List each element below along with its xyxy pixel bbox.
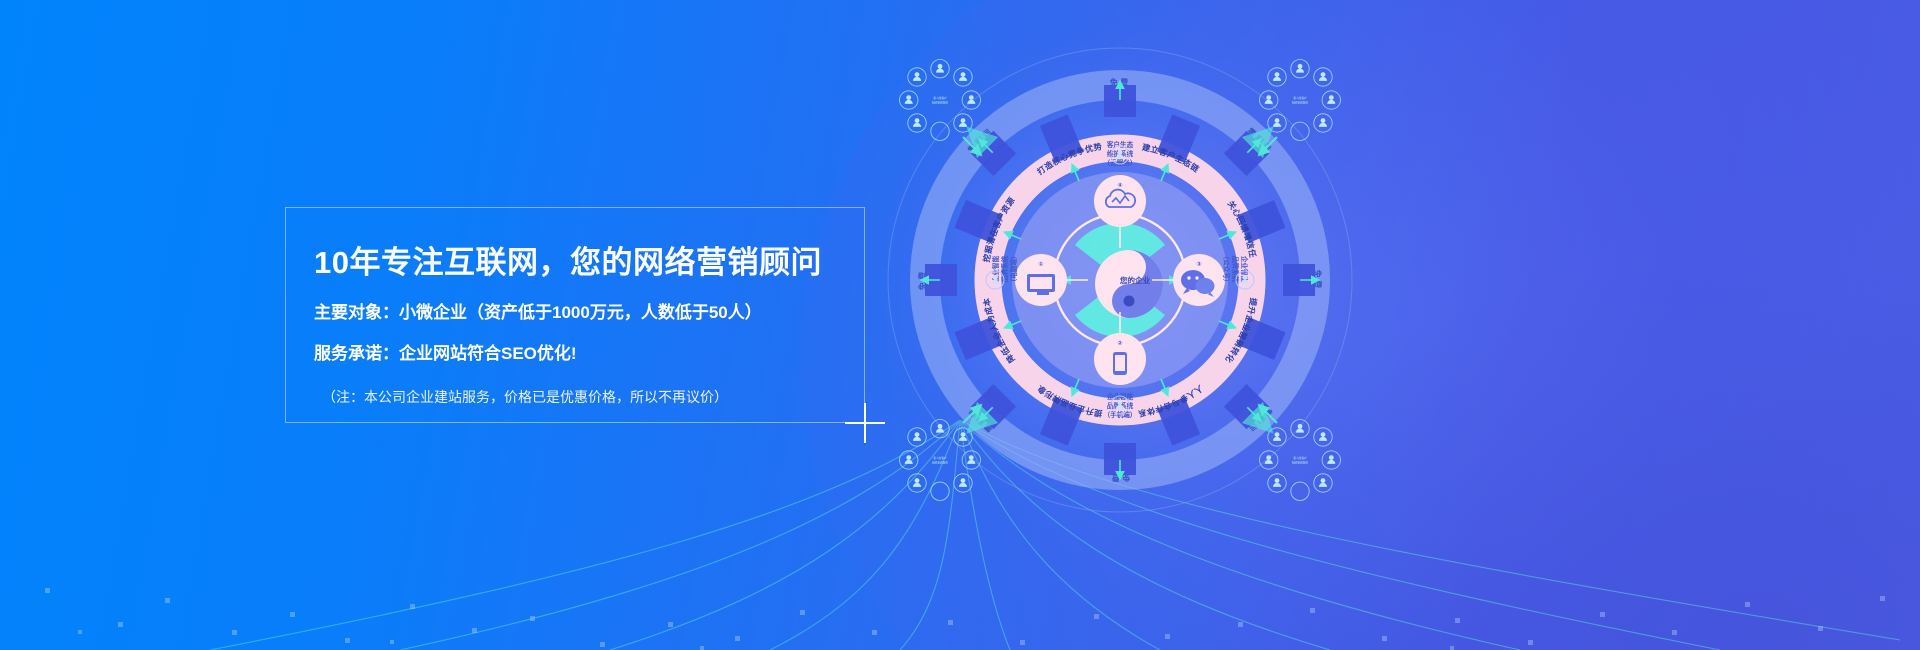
cluster-label: 新的新的新的 — [1292, 461, 1308, 465]
page-title: 10年专注互联网，您的网络营销顾问 — [314, 246, 864, 280]
node-number: ① — [1038, 261, 1043, 268]
hero-banner: 10年专注互联网，您的网络营销顾问 主要对象：小微企业（资产低于1000万元，人… — [0, 0, 1920, 650]
cluster-label: 新人的客户 — [933, 96, 947, 100]
price-note: （注：本公司企业建站服务，价格已是优惠价格，所以不再议价） — [322, 387, 864, 407]
node-number: ④ — [1117, 182, 1122, 189]
cluster-label: 新人的客户 — [1293, 96, 1307, 100]
node-number: ② — [1117, 340, 1122, 347]
node-number: ③ — [1196, 261, 1201, 268]
service-promise-line: 服务承诺：企业网站符合SEO优化! — [314, 344, 864, 364]
mobile-icon — [1113, 352, 1127, 375]
target-audience-line: 主要对象：小微企业（资产低于1000万元，人数低于50人） — [314, 303, 864, 323]
cluster-label: 新的新的新的 — [932, 101, 948, 105]
center-label: 您的企业 — [1120, 275, 1151, 285]
cluster-label: 新的新的新的 — [1292, 101, 1308, 105]
ecosystem-diagram: 免费 零利润 免费 零利润 免费 零利润 免费 零利润 — [835, 0, 1405, 565]
monitor-icon — [1027, 274, 1055, 295]
cluster-label: 新的新的新的 — [932, 461, 948, 465]
cluster-label: 新人的客户 — [933, 456, 947, 460]
cluster-label: 新人的客户 — [1293, 456, 1307, 460]
promo-text-card: 10年专注互联网，您的网络营销顾问 主要对象：小微企业（资产低于1000万元，人… — [285, 207, 865, 423]
